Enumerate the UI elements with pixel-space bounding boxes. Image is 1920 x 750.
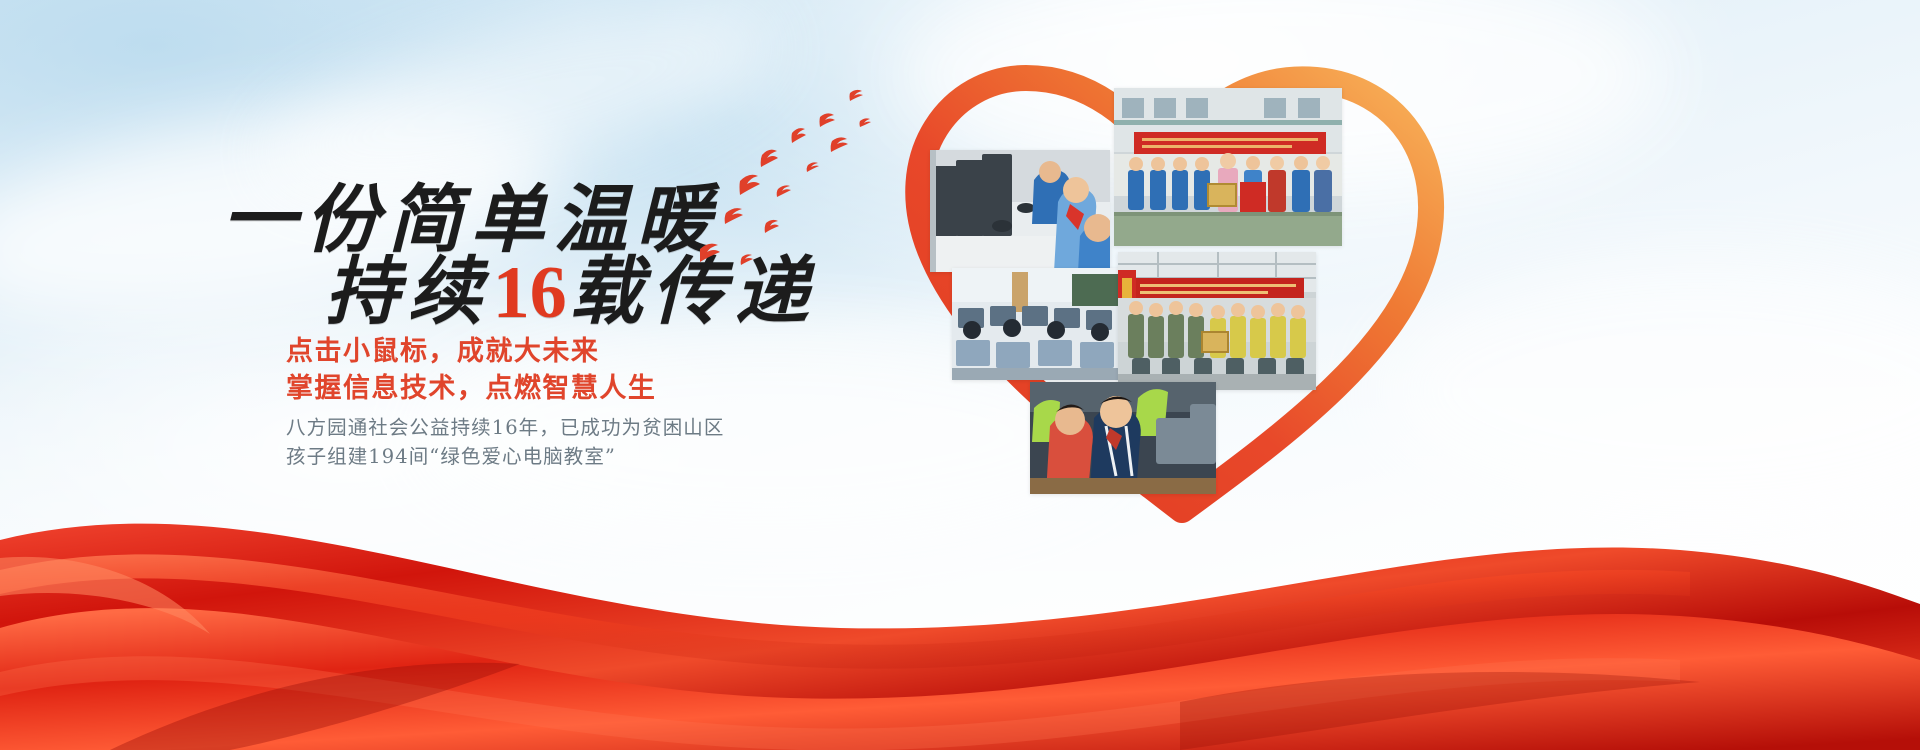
subtitle-line-2: 掌握信息技术，点燃智慧人生 <box>286 366 656 405</box>
headline-year-number: 16 <box>491 252 569 334</box>
photo-computer-classroom <box>952 268 1134 380</box>
charity-banner: 一份简单温暖 持续16载传递 点击小鼠标，成就大未来 掌握信息技术，点燃智慧人生… <box>0 0 1920 750</box>
photo-donation-ceremony-indoor <box>1118 252 1316 390</box>
photo-donation-ceremony-school <box>1114 88 1342 246</box>
subtitle-line-1: 点击小鼠标，成就大未来 <box>286 329 599 368</box>
red-silk-ribbon <box>0 420 1920 750</box>
photo-computer-lab-students <box>930 150 1110 272</box>
headline-prefix: 持续 <box>325 249 491 335</box>
